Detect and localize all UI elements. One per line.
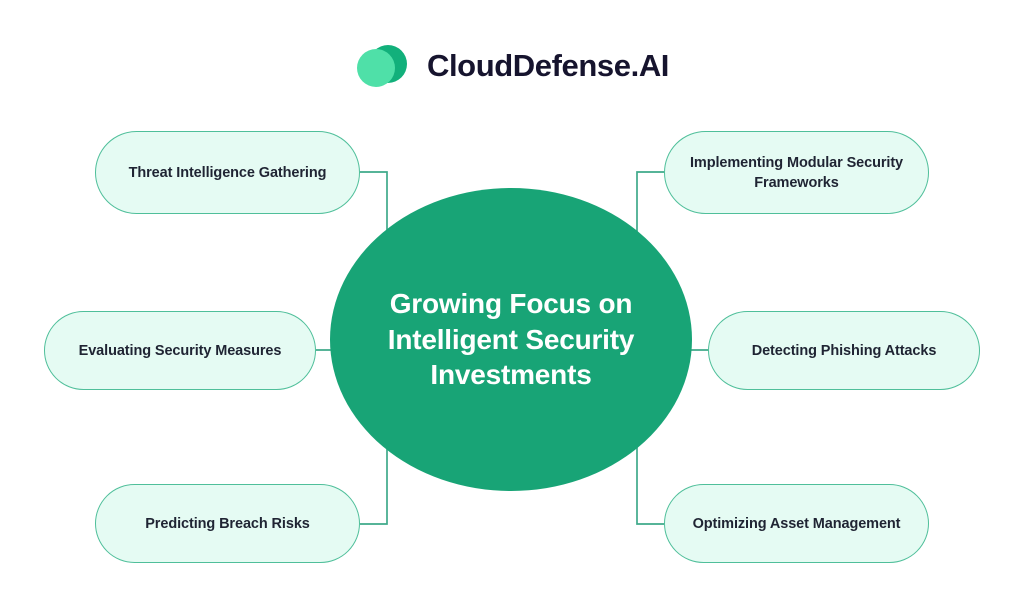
branch-node-middle-left[interactable]: Evaluating Security Measures: [44, 311, 316, 390]
branch-node-bottom-right[interactable]: Optimizing Asset Management: [664, 484, 929, 563]
branch-node-label: Detecting Phishing Attacks: [752, 341, 937, 361]
diagram-canvas: CloudDefense.AI Growing Focus on Intelli…: [0, 0, 1024, 599]
branch-node-top-left[interactable]: Threat Intelligence Gathering: [95, 131, 360, 214]
branch-node-label: Implementing Modular Security Frameworks: [690, 153, 903, 193]
branch-node-label: Evaluating Security Measures: [79, 341, 282, 361]
branch-node-top-right[interactable]: Implementing Modular Security Frameworks: [664, 131, 929, 214]
center-node[interactable]: Growing Focus on Intelligent Security In…: [330, 188, 692, 491]
wire-bottom-right: [637, 446, 664, 524]
branch-node-bottom-left[interactable]: Predicting Breach Risks: [95, 484, 360, 563]
center-node-label: Growing Focus on Intelligent Security In…: [361, 286, 661, 393]
branch-node-label: Optimizing Asset Management: [693, 514, 901, 534]
branch-node-middle-right[interactable]: Detecting Phishing Attacks: [708, 311, 980, 390]
branch-node-label: Threat Intelligence Gathering: [129, 163, 327, 183]
wire-bottom-left: [360, 446, 387, 524]
branch-node-label: Predicting Breach Risks: [145, 514, 310, 534]
